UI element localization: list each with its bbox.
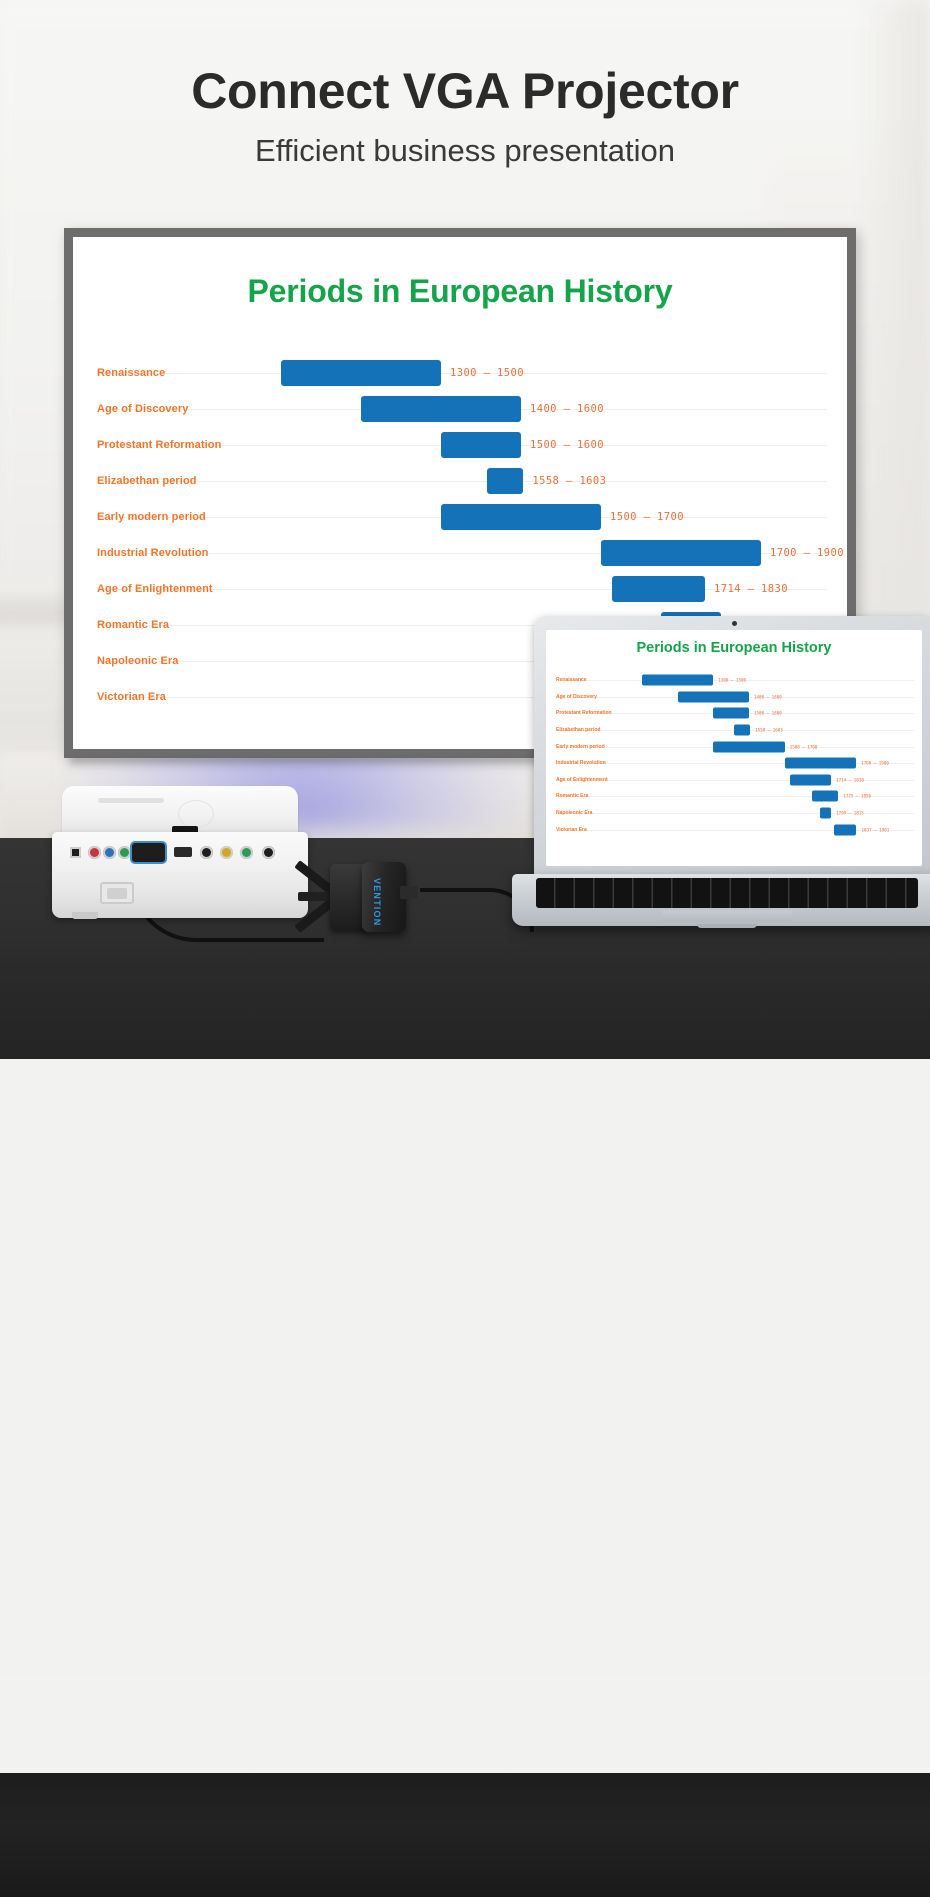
chart-range-label: 1558 – 1603 [755,728,783,733]
laptop-keyboard[interactable] [536,878,918,908]
webcam-icon [732,621,737,626]
chart-gridline [97,481,827,482]
hdmi-port [174,847,192,857]
chart-category-label: Age of Enlightenment [556,777,608,783]
composite-yellow-port [220,846,233,859]
chart-category-label: Romantic Era [556,793,588,799]
chart-bar [785,758,856,769]
chart-category-label: Napoleonic Era [556,810,592,816]
audio-green-port [240,846,253,859]
chart-bar [820,808,831,819]
chart-row: Renaissance1300 – 1500 [546,672,922,689]
laptop: Periods in European History Renaissance1… [512,616,930,942]
chart-range-label: 1400 – 1600 [754,694,782,699]
vga-port [132,843,165,862]
vga-adapter: VENTION [288,860,428,934]
chart-category-label: Protestant Reformation [556,710,612,716]
chart-bar [441,432,521,458]
s-video-port [70,847,81,858]
chart-category-label: Early modern period [97,511,206,523]
laptop-lid: Periods in European History Renaissance1… [534,616,930,878]
chart-bar [834,824,857,835]
power-socket [100,882,134,904]
audio-out-port [262,846,275,859]
chart-category-label: Victorian Era [556,827,587,833]
chart-range-label: 1700 – 1900 [861,761,889,766]
chart-category-label: Renaissance [97,367,165,379]
chart-range-label: 1300 – 1500 [718,678,746,683]
laptop-slide: Periods in European History Renaissance1… [546,630,922,866]
chart-row: Elizabethan period1558 – 1603 [73,463,847,499]
desk-front-edge [0,1773,930,1897]
chart-range-label: 1775 – 1850 [843,794,871,799]
projector-port-panel [70,840,290,866]
chart-category-label: Protestant Reformation [97,439,221,451]
chart-row: Early modern period1500 – 1700 [73,499,847,535]
chart-row: Protestant Reformation1500 – 1600 [73,427,847,463]
projector-focus-dial [178,800,214,828]
chart-category-label: Napoleonic Era [97,655,178,667]
chart-row: Victorian Era1837 – 1901 [546,821,922,838]
chart-row: Age of Discovery1400 – 1600 [73,391,847,427]
chart-bar [790,774,831,785]
chart-category-label: Elizabethan period [97,475,197,487]
page-subtitle: Efficient business presentation [0,133,930,169]
chart-bar [601,540,761,566]
chart-category-label: Victorian Era [97,691,166,703]
chart-bar [678,691,749,702]
chart-category-label: Industrial Revolution [97,547,209,559]
chart-range-label: 1714 – 1830 [836,777,864,782]
page-title: Connect VGA Projector [0,62,930,120]
component-green-port [118,846,131,859]
chart-bar [612,576,705,602]
component-red-port [88,846,101,859]
projector-vent [98,798,164,803]
chart-range-label: 1714 – 1830 [714,583,788,595]
chart-row: Renaissance1300 – 1500 [73,355,847,391]
chart-range-label: 1837 – 1901 [862,827,890,832]
desk-sheen [0,1676,930,1694]
chart-category-label: Age of Discovery [97,403,188,415]
chart-range-label: 1500 – 1700 [790,744,818,749]
adapter-cable-stub [400,886,418,899]
laptop-lid-notch [697,924,757,928]
chart-bar [487,468,523,494]
component-blue-port [103,846,116,859]
chart-bar [361,396,521,422]
chart-category-label: Industrial Revolution [556,760,606,766]
chart-range-label: 1799 – 1815 [836,811,864,816]
chart-range-label: 1700 – 1900 [770,547,844,559]
chart-category-label: Early modern period [556,744,605,750]
chart-row: Age of Discovery1400 – 1600 [546,689,922,706]
chart-category-label: Elizabethan period [556,727,600,733]
chart-bar [734,725,750,736]
chart-range-label: 1500 – 1600 [754,711,782,716]
laptop-trackpad[interactable] [662,910,792,922]
laptop-chart-rows: Renaissance1300 – 1500Age of Discovery14… [546,672,922,838]
chart-title: Periods in European History [73,273,847,310]
chart-range-label: 1300 – 1500 [450,367,524,379]
chart-category-label: Romantic Era [97,619,169,631]
laptop-screen: Periods in European History Renaissance1… [546,630,922,866]
chart-range-label: 1500 – 1700 [610,511,684,523]
chart-gridline [556,830,914,831]
chart-category-label: Age of Discovery [556,694,597,700]
chart-row: Industrial Revolution1700 – 1900 [73,535,847,571]
chart-category-label: Renaissance [556,677,587,683]
chart-row: Protestant Reformation1500 – 1600 [546,705,922,722]
chart-bar [713,741,784,752]
chart-bar [642,675,713,686]
chart-range-label: 1558 – 1603 [532,475,606,487]
chart-category-label: Age of Enlightenment [97,583,213,595]
chart-bar [441,504,601,530]
adapter-brand-label: VENTION [368,878,382,928]
audio-black-port [200,846,213,859]
chart-row: Industrial Revolution1700 – 1900 [546,755,922,772]
chart-row: Age of Enlightenment1714 – 1830 [546,772,922,789]
chart-range-label: 1400 – 1600 [530,403,604,415]
vga-projector [48,786,312,918]
chart-range-label: 1500 – 1600 [530,439,604,451]
chart-bar [812,791,839,802]
chart-row: Age of Enlightenment1714 – 1830 [73,571,847,607]
chart-bar [713,708,749,719]
chart-row: Elizabethan period1558 – 1603 [546,722,922,739]
laptop-chart-title: Periods in European History [546,640,922,656]
projector-foot [72,912,98,919]
chart-row: Romantic Era1775 – 1850 [546,788,922,805]
chart-row: Napoleonic Era1799 – 1815 [546,805,922,822]
chart-bar [281,360,441,386]
chart-row: Early modern period1500 – 1700 [546,738,922,755]
